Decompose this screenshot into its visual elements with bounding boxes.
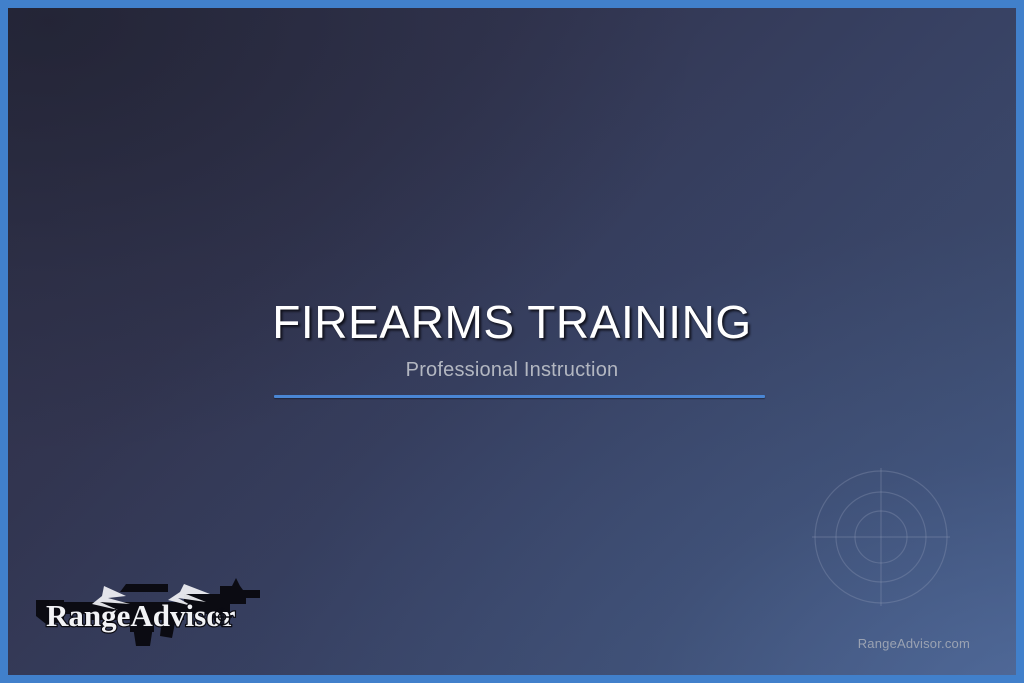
presentation-slide: FIREARMS TRAINING Professional Instructi… — [0, 0, 1024, 683]
page-subtitle: Professional Instruction — [8, 358, 1016, 382]
brand-wordmark: RangeAdvisor — [46, 598, 236, 633]
page-title: FIREARMS TRAINING — [8, 296, 1016, 348]
footer-url: RangeAdvisor.com — [858, 636, 970, 651]
brand-logo: RangeAdvisor — [34, 574, 264, 650]
accent-divider — [274, 395, 765, 398]
title-block: FIREARMS TRAINING Professional Instructi… — [8, 296, 1016, 382]
